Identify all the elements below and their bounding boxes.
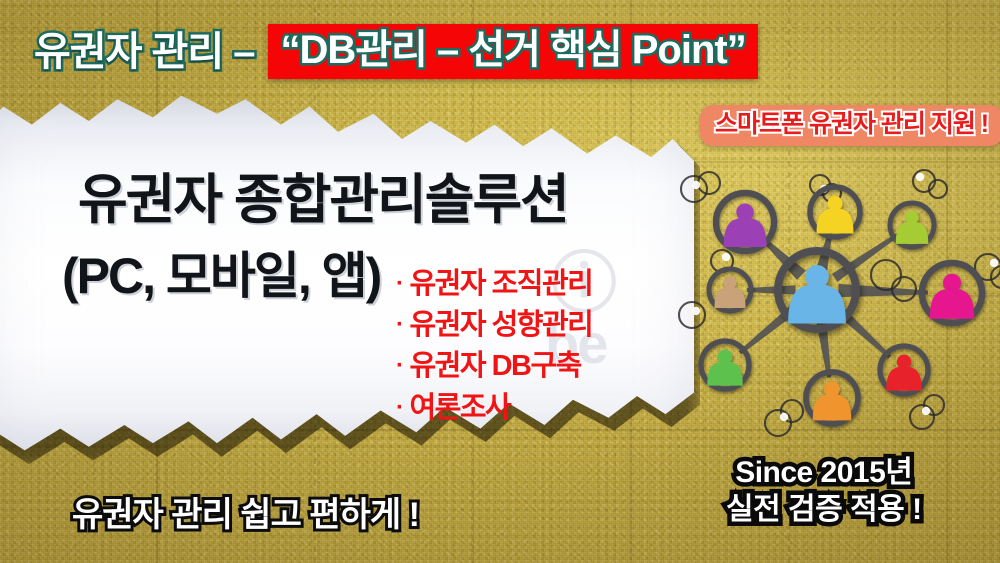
person-avatar-tan: [714, 277, 745, 309]
person-avatar-green: [707, 350, 743, 386]
people-network-svg: [672, 155, 1000, 445]
feature-list: · 유권자 조직관리 · 유권자 성향관리 · 유권자 DB구축 · 여론조사: [396, 264, 592, 429]
network-node-pink: [922, 263, 982, 323]
decorative-ring-icon-4: [913, 170, 935, 192]
person-avatar-orange: [813, 381, 851, 420]
person-avatar-lime: [896, 211, 929, 244]
list-item: · 유권자 DB구축: [396, 346, 592, 387]
page-subtitle: (PC, 모바일, 앱): [62, 250, 380, 303]
status-badge-since-line1: Since 2015년: [726, 455, 922, 492]
list-item-label: 유권자 조직관리: [410, 264, 593, 305]
decorative-ring-icon-14: [910, 405, 934, 429]
status-badge-since-line2: 실전 검증 적용 !: [726, 492, 922, 529]
person-avatar-purple: [724, 203, 767, 247]
status-badge-smartphone: 스마트폰 유권자 관리 지원 !: [700, 105, 1000, 146]
bullet-dot-icon: ·: [396, 349, 403, 383]
network-node-yellow: [810, 187, 860, 237]
decorative-dot-icon-5: [692, 307, 700, 315]
headline: 유권자 관리 – “DB관리 – 선거 핵심 Point”: [34, 24, 758, 79]
network-link-tan: [747, 285, 796, 294]
decorative-ring-icon-12: [765, 410, 791, 436]
decorative-dot-icon-3: [722, 253, 730, 261]
page-title: 유권자 종합관리솔루션: [78, 172, 568, 229]
bullet-dot-icon: ·: [396, 308, 403, 342]
headline-red-box: “DB관리 – 선거 핵심 Point”: [268, 24, 757, 79]
people-network-diagram: [672, 155, 1000, 450]
status-badge-since: Since 2015년 실전 검증 적용 !: [726, 455, 922, 528]
status-badge-smartphone-label: 스마트폰 유권자 관리 지원 !: [715, 110, 988, 138]
decorative-dot-icon-7: [922, 407, 930, 415]
list-item-label: 유권자 DB구축: [410, 346, 581, 387]
list-item: · 유권자 성향관리: [396, 305, 592, 346]
network-node-green: [701, 341, 749, 389]
decorative-dot-icon-4: [990, 259, 998, 267]
bullet-dot-icon: ·: [396, 391, 403, 425]
headline-prefix: 유권자 관리 –: [34, 32, 254, 72]
decorative-dot-icon-2: [916, 173, 924, 181]
decorative-ring-icon-6: [871, 260, 901, 290]
decorative-ring-icon-0: [681, 176, 707, 202]
network-node-purple: [716, 193, 774, 251]
person-avatar-pink: [930, 274, 974, 319]
network-nodes: [701, 187, 982, 424]
decorative-ring-icon-11: [679, 302, 705, 328]
promotional-banner: ⓘ be 유권자 관리 – “DB관리 – 선거 핵심 Point” 유권자 종…: [0, 0, 1000, 563]
network-node-orange: [806, 372, 858, 424]
network-node-red: [880, 346, 928, 394]
person-avatar-yellow: [817, 196, 854, 234]
list-item: · 여론조사: [396, 388, 592, 429]
decorative-ring-icon-1: [698, 172, 720, 194]
network-node-tan: [709, 269, 751, 311]
decorative-dot-icon-0: [692, 181, 700, 189]
bullet-dot-icon: ·: [396, 267, 403, 301]
list-item: · 유권자 조직관리: [396, 264, 592, 305]
list-item-label: 유권자 성향관리: [410, 305, 593, 346]
network-node-lime: [890, 203, 934, 247]
person-avatar-red: [886, 355, 922, 391]
decorative-dot-icon-6: [780, 413, 788, 421]
headline-quoted-text: “DB관리 – 선거 핵심 Point”: [280, 30, 745, 70]
bottom-slogan: 유권자 관리 쉽고 편하게 !: [72, 498, 419, 532]
list-item-label: 여론조사: [410, 388, 511, 429]
